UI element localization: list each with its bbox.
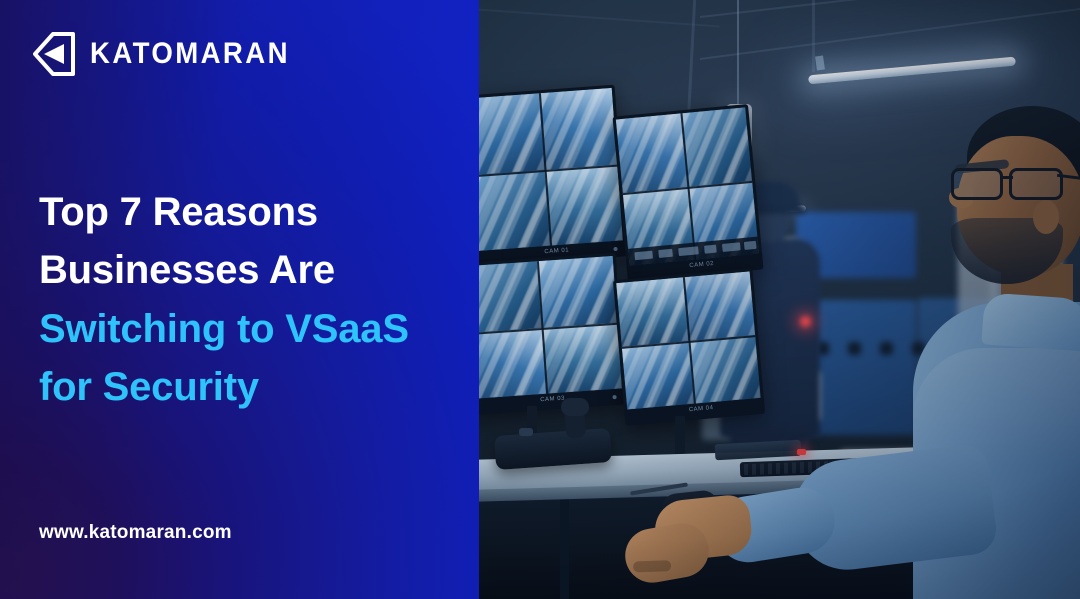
monitor-label: CAM 04 — [689, 405, 714, 413]
monitor-top-right: CAM 02 — [612, 104, 763, 282]
power-led — [613, 247, 617, 251]
website-url[interactable]: www.katomaran.com — [39, 522, 232, 544]
red-status-led — [797, 449, 806, 455]
headline-block: Top 7 Reasons Businesses Are Switching t… — [39, 183, 459, 417]
monitor-bottom-left: CAM 03 — [458, 253, 626, 416]
desk-leg — [560, 494, 569, 599]
lamp-cord — [737, 0, 739, 108]
monitor-top-left: CAM 01 — [463, 85, 627, 268]
eyeglasses-bridge — [1001, 176, 1013, 179]
power-led — [612, 395, 616, 399]
headline-line-2: Businesses Are — [39, 241, 459, 299]
brand-logo[interactable]: KATOMARAN — [33, 30, 307, 78]
monitor-stand — [675, 416, 685, 456]
headline-line-3: Switching to VSaaS — [39, 300, 459, 358]
monitor-label: CAM 01 — [544, 247, 569, 255]
joystick-knob — [561, 398, 589, 416]
monitor-label: CAM 02 — [689, 261, 714, 269]
shirt-collar — [981, 292, 1080, 351]
brand-wordmark: KATOMARAN — [90, 39, 290, 69]
headline-line-4: for Security — [39, 358, 459, 416]
ear — [1033, 200, 1059, 234]
eyeglasses-lens — [951, 168, 1003, 200]
joystick-button — [519, 428, 533, 436]
headline-line-1: Top 7 Reasons — [39, 183, 459, 241]
banner-image: CAM 01 — [0, 0, 1080, 599]
red-indicator-light — [800, 316, 811, 327]
arrow-pentagon-icon — [33, 30, 77, 78]
text-panel: KATOMARAN Top 7 Reasons Businesses Are S… — [0, 0, 479, 599]
ceiling-strut — [812, 0, 815, 72]
monitor-bottom-right: CAM 04 — [613, 268, 765, 426]
eyeglasses-lens — [1009, 168, 1063, 200]
seated-operator — [905, 96, 1080, 599]
